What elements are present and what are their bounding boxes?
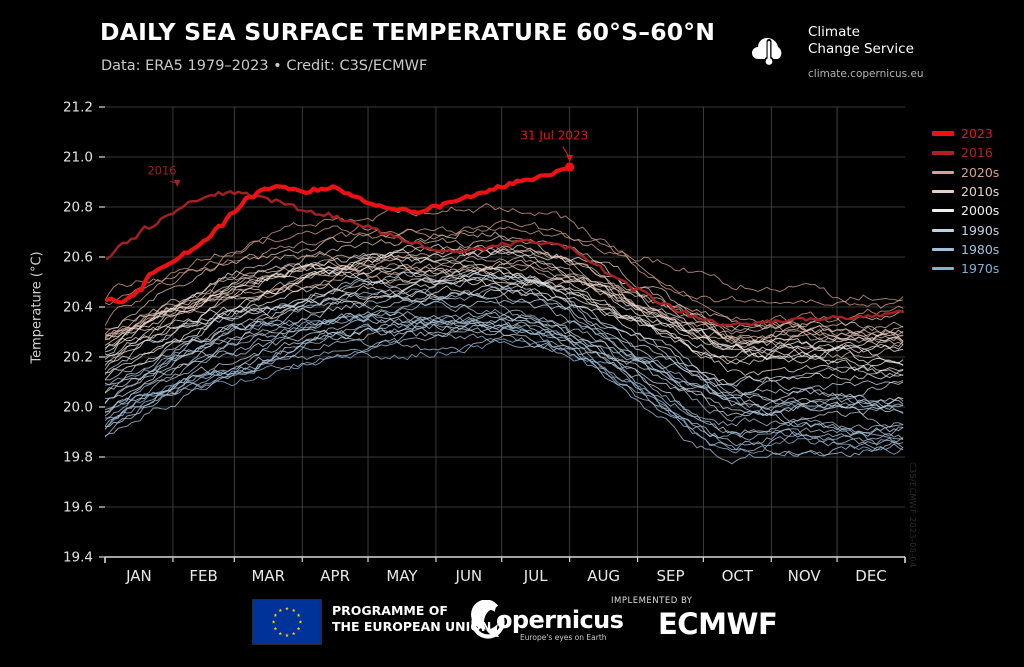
- copernicus-wordmark: opernicus: [496, 606, 623, 634]
- legend-swatch-icon: [932, 209, 954, 212]
- legend-item-label: 2010s: [961, 184, 999, 199]
- x-tick-label: NOV: [788, 567, 822, 585]
- ecmwf-mark-icon: [616, 606, 660, 638]
- legend-swatch-icon: [932, 171, 954, 174]
- legend-swatch-icon: [932, 131, 954, 136]
- footer-logos: PROGRAMME OF THE EUROPEAN UNION opernicu…: [0, 592, 1024, 652]
- legend-item-1980s[interactable]: 1980s: [932, 240, 1022, 259]
- x-tick-label: MAR: [251, 567, 285, 585]
- copernicus-logo: opernicus Europe's eyes on Earth: [468, 600, 608, 644]
- x-tick-label: APR: [320, 567, 350, 585]
- legend-item-label: 2000s: [961, 203, 999, 218]
- ecmwf-wordmark: ECMWF: [658, 607, 777, 641]
- y-tick-label: 21.2: [63, 100, 93, 116]
- x-tick-label: JUN: [455, 567, 483, 585]
- legend-item-label: 1970s: [961, 261, 999, 276]
- sst-line-chart: 19.419.619.820.020.220.420.620.821.021.2…: [0, 0, 1024, 663]
- legend-item-2016[interactable]: 2016: [932, 143, 1022, 162]
- eu-stars: [253, 600, 321, 644]
- annotation-label: 31 Jul 2023: [520, 129, 588, 143]
- legend-swatch-icon: [932, 267, 954, 270]
- legend-swatch-icon: [932, 248, 954, 251]
- series-end-marker-2023: [565, 162, 574, 171]
- legend-item-1970s[interactable]: 1970s: [932, 259, 1022, 278]
- y-axis-label: Temperature (°C): [30, 248, 45, 368]
- legend-item-2010s[interactable]: 2010s: [932, 182, 1022, 201]
- y-tick-label: 19.8: [63, 450, 93, 466]
- x-tick-label: SEP: [656, 567, 684, 585]
- legend-item-2023[interactable]: 2023: [932, 124, 1022, 143]
- x-tick-label: FEB: [189, 567, 217, 585]
- x-tick-label: AUG: [587, 567, 620, 585]
- annotation-label: 2016: [147, 164, 176, 178]
- legend-item-label: 2020s: [961, 165, 999, 180]
- y-tick-label: 20.0: [63, 400, 93, 416]
- x-tick-label: JUL: [523, 567, 548, 585]
- y-axis-ticks: 19.419.619.820.020.220.420.620.821.021.2: [63, 100, 93, 566]
- legend-swatch-icon: [932, 151, 954, 156]
- legend-item-2000s[interactable]: 2000s: [932, 201, 1022, 220]
- legend-item-label: 2023: [961, 126, 993, 141]
- x-axis-ticks: JANFEBMARAPRMAYJUNJULAUGSEPOCTNOVDEC: [125, 567, 887, 585]
- y-tick-label: 21.0: [63, 150, 93, 166]
- legend-item-label: 2016: [961, 145, 993, 160]
- y-tick-label: 20.2: [63, 350, 93, 366]
- legend-swatch-icon: [932, 229, 954, 232]
- chart-legend: 202320162020s2010s2000s1990s1980s1970s: [932, 124, 1022, 278]
- y-tick-label: 19.4: [63, 550, 93, 566]
- implemented-by-label: IMPLEMENTED BY: [611, 596, 693, 606]
- x-tick-label: MAY: [386, 567, 418, 585]
- y-tick-label: 20.8: [63, 200, 93, 216]
- legend-item-1990s[interactable]: 1990s: [932, 220, 1022, 239]
- chart-page: DAILY SEA SURFACE TEMPERATURE 60°S–60°N …: [0, 0, 1024, 663]
- eu-flag-icon: [252, 599, 322, 645]
- chart-plot-area: 19.419.619.820.020.220.420.620.821.021.2…: [0, 0, 1024, 663]
- series-line-2016: [107, 191, 903, 325]
- grid-lines: [105, 107, 905, 557]
- legend-item-label: 1980s: [961, 242, 999, 257]
- y-tick-label: 19.6: [63, 500, 93, 516]
- y-tick-label: 20.4: [63, 300, 93, 316]
- x-tick-label: JAN: [125, 567, 152, 585]
- legend-item-label: 1990s: [961, 223, 999, 238]
- copernicus-tagline: Europe's eyes on Earth: [520, 633, 607, 642]
- credit-watermark: C3S/ECMWF 2023-08-04: [908, 462, 917, 568]
- legend-item-2020s[interactable]: 2020s: [932, 163, 1022, 182]
- y-tick-label: 20.6: [63, 250, 93, 266]
- x-tick-label: DEC: [855, 567, 887, 585]
- x-tick-label: OCT: [722, 567, 754, 585]
- legend-swatch-icon: [932, 190, 954, 193]
- series-curves: [105, 162, 903, 463]
